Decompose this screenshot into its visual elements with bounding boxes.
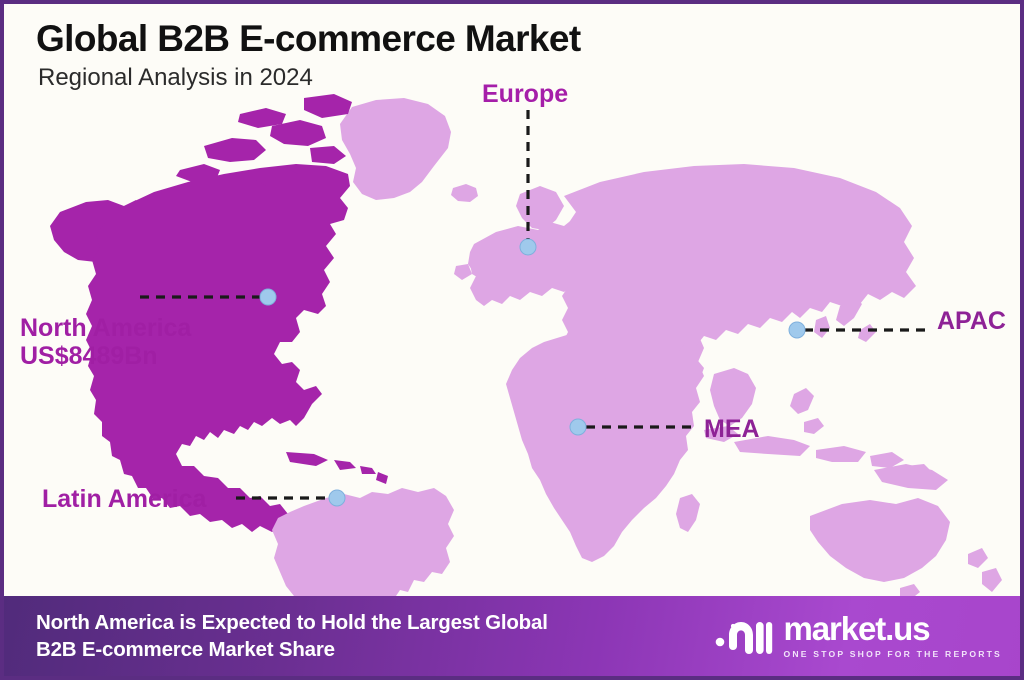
marker-europe[interactable] xyxy=(520,239,537,256)
footer-headline-line2: B2B E-commerce Market Share xyxy=(36,636,548,663)
infographic-canvas: Global B2B E-commerce Market Regional An… xyxy=(0,0,1024,680)
map-region-iceland xyxy=(451,184,478,202)
region-label-north-america-value: US$8489Bn xyxy=(20,342,191,370)
market-us-logo-text: market.us ONE STOP SHOP FOR THE REPORTS xyxy=(783,613,1002,658)
footer-headline: North America is Expected to Hold the La… xyxy=(36,609,548,663)
map-region-new-guinea xyxy=(874,464,948,490)
marker-mea[interactable] xyxy=(570,419,587,436)
region-label-mea: MEA xyxy=(704,415,760,443)
region-label-north-america: North America US$8489Bn xyxy=(20,314,191,370)
market-us-logo-tagline: ONE STOP SHOP FOR THE REPORTS xyxy=(783,649,1002,659)
region-label-north-america-name: North America xyxy=(20,314,191,342)
footer-headline-line1: North America is Expected to Hold the La… xyxy=(36,609,548,636)
region-label-europe: Europe xyxy=(482,80,568,108)
market-us-bars-logo-icon xyxy=(715,616,773,656)
map-region-greenland xyxy=(340,98,451,200)
map-region-caribbean xyxy=(286,452,388,484)
map-region-scandinavia xyxy=(516,186,564,230)
map-region-korea xyxy=(814,316,830,338)
marker-north-america[interactable] xyxy=(260,289,277,306)
marker-latin-america[interactable] xyxy=(329,490,346,507)
region-label-mea-name: MEA xyxy=(704,415,760,443)
map-region-new-zealand xyxy=(968,548,1002,592)
region-label-apac: APAC xyxy=(937,307,1006,335)
marker-apac[interactable] xyxy=(789,322,806,339)
region-label-apac-name: APAC xyxy=(937,307,1006,335)
page-title: Global B2B E-commerce Market xyxy=(36,18,816,59)
map-region-australia xyxy=(810,498,950,582)
map-region-madagascar xyxy=(676,494,700,532)
region-label-latin-america-name: Latin America xyxy=(42,485,206,513)
region-label-europe-name: Europe xyxy=(482,80,568,108)
market-us-logo[interactable]: market.us ONE STOP SHOP FOR THE REPORTS xyxy=(715,613,1002,658)
market-us-logo-name: market.us xyxy=(783,613,1002,645)
footer-banner: North America is Expected to Hold the La… xyxy=(4,596,1024,676)
region-label-latin-america: Latin America xyxy=(42,485,206,513)
